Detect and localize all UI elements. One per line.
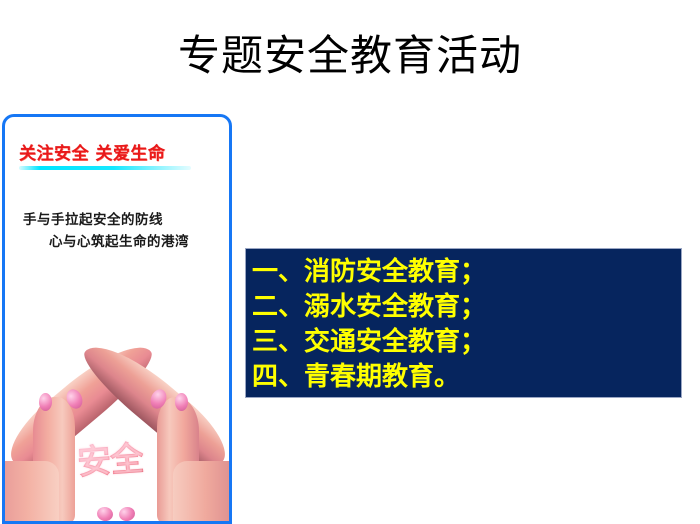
poster-divider-rule	[19, 166, 191, 170]
fingernail-icon	[39, 393, 52, 411]
fingernail-icon	[118, 505, 137, 522]
safety-poster-image: 关注安全 关爱生命 手与手拉起安全的防线 心与心筑起生命的港湾 安全	[2, 114, 232, 524]
agenda-item-4: 四、青春期教育。	[252, 360, 681, 395]
hands-house-illustration: 安全	[5, 255, 229, 521]
poster-safety-word: 安全	[75, 431, 144, 484]
agenda-item-1: 一、消防安全教育；	[252, 255, 681, 290]
agenda-item-2: 二、溺水安全教育；	[252, 290, 681, 325]
agenda-item-3: 三、交通安全教育；	[252, 325, 681, 360]
forearm-left-icon	[2, 461, 59, 524]
agenda-list-box: 一、消防安全教育； 二、溺水安全教育； 三、交通安全教育； 四、青春期教育。	[245, 248, 682, 398]
fingernail-icon	[175, 393, 188, 411]
forearm-right-icon	[173, 461, 232, 524]
poster-slogan-line-1: 手与手拉起安全的防线	[23, 208, 163, 228]
fingernail-icon	[96, 505, 115, 522]
poster-headline: 关注安全 关爱生命	[19, 139, 165, 164]
poster-slogan-line-2: 心与心筑起生命的港湾	[49, 230, 189, 250]
page-title: 专题安全教育活动	[0, 30, 700, 82]
